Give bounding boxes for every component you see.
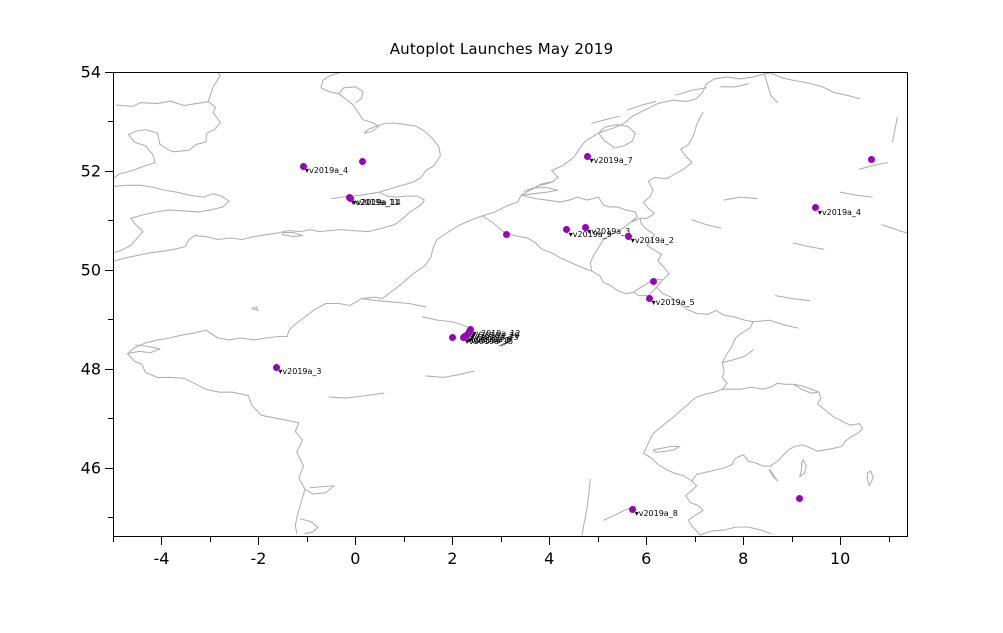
scatter-point-label: ▾v2019a_3 <box>278 367 321 376</box>
y-tick-label: 52 <box>81 161 101 180</box>
x-tick-minor <box>501 537 502 542</box>
x-tick-major <box>840 537 841 545</box>
scatter-point-label: ▾v2019a_4 <box>305 166 348 175</box>
y-tick-label: 48 <box>81 359 101 378</box>
x-tick-major <box>743 537 744 545</box>
scatter-point-label: ▾v2019a_14 <box>353 198 401 207</box>
x-tick-label: -2 <box>250 549 266 568</box>
y-tick-label: 46 <box>81 458 101 477</box>
x-tick-label: 2 <box>447 549 457 568</box>
scatter-point-label: ▾v2019a_8 <box>635 509 678 518</box>
chart-page: Autoplot Launches May 2019 <box>0 0 1003 633</box>
y-tick-major <box>105 468 113 469</box>
x-tick-major <box>161 537 162 545</box>
scatter-point-label: ▾v2019a_3 <box>587 227 630 236</box>
scatter-point <box>503 231 510 238</box>
x-tick-minor <box>113 537 114 542</box>
y-tick-label: 50 <box>81 260 101 279</box>
scatter-point-label: ▾v2019a_7 <box>590 156 633 165</box>
x-tick-minor <box>598 537 599 542</box>
x-tick-major <box>549 537 550 545</box>
x-tick-minor <box>889 537 890 542</box>
y-tick-major <box>105 72 113 73</box>
x-tick-minor <box>404 537 405 542</box>
x-tick-label: 0 <box>350 549 360 568</box>
scatter-point-label: ▾v2019a_15 <box>465 337 513 346</box>
scatter-point <box>650 278 657 285</box>
x-tick-major <box>452 537 453 545</box>
y-tick-major <box>105 270 113 271</box>
x-tick-minor <box>307 537 308 542</box>
x-tick-label: 6 <box>641 549 651 568</box>
y-tick-major <box>105 369 113 370</box>
scatter-point-label: ▾v2019a_2 <box>631 236 674 245</box>
page-title: Autoplot Launches May 2019 <box>0 40 1003 58</box>
scatter-point-label: ▾v2019a_5 <box>652 298 695 307</box>
scatter-point <box>868 156 875 163</box>
x-tick-major <box>258 537 259 545</box>
x-tick-label: 10 <box>830 549 850 568</box>
x-tick-minor <box>695 537 696 542</box>
plot-area: ▾v2019a_4▾v2019a_11▾v2019a_14▾v2019a_3▾v… <box>113 72 908 537</box>
x-tick-major <box>355 537 356 545</box>
scatter-point <box>449 334 456 341</box>
x-tick-label: 4 <box>544 549 554 568</box>
x-tick-minor <box>210 537 211 542</box>
x-tick-label: 8 <box>738 549 748 568</box>
scatter-points-layer: ▾v2019a_4▾v2019a_11▾v2019a_14▾v2019a_3▾v… <box>114 73 907 536</box>
x-tick-major <box>646 537 647 545</box>
x-tick-minor <box>792 537 793 542</box>
scatter-point-label: ▾v2019a_4 <box>818 208 861 217</box>
x-tick-label: -4 <box>153 549 169 568</box>
y-tick-label: 54 <box>81 63 101 82</box>
y-tick-major <box>105 171 113 172</box>
scatter-point <box>796 495 803 502</box>
scatter-point <box>359 158 366 165</box>
